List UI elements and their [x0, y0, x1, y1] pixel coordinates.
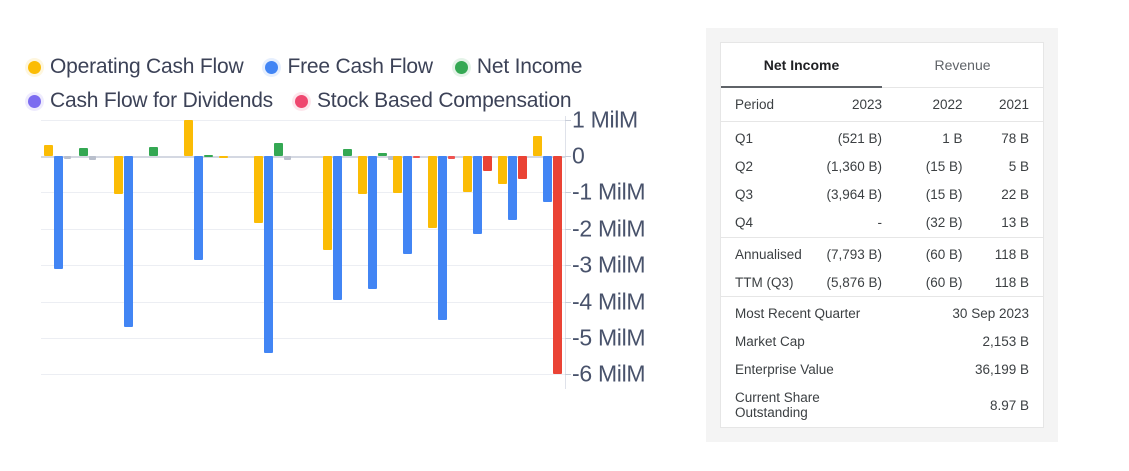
bar-operating-cash-flow[interactable]	[463, 156, 472, 192]
row-value: 30 Sep 2023	[882, 297, 1043, 328]
column-header-period: Period	[721, 88, 802, 122]
cell-2023: (7,793 B)	[802, 237, 883, 268]
chart-y-tickmark	[565, 302, 571, 303]
chart-y-tick-label: -4 MilM	[572, 288, 645, 315]
row-value: 36,199 B	[882, 356, 1043, 384]
bar-operating-cash-flow[interactable]	[114, 156, 123, 194]
bar-cash-flow-for-dividends[interactable]	[64, 156, 71, 159]
legend-label: Cash Flow for Dividends	[50, 89, 273, 113]
row-value: 2,153 B	[882, 328, 1043, 356]
financials-card: Net Income Revenue Period 2023 2022 2021…	[720, 42, 1044, 428]
bar-free-cash-flow[interactable]	[473, 156, 482, 234]
legend-dot-icon	[265, 61, 278, 74]
chart-y-tick-label: -5 MilM	[572, 325, 645, 352]
cell-2022: (32 B)	[882, 209, 963, 238]
financials-tabs: Net Income Revenue	[721, 43, 1043, 88]
bar-net-income[interactable]	[79, 148, 88, 156]
legend-item-free-cash-flow[interactable]: Free Cash Flow	[265, 55, 432, 79]
cash-flow-chart-panel: Operating Cash Flow Free Cash Flow Net I…	[0, 0, 680, 471]
chart-bar-group[interactable]	[181, 116, 216, 389]
table-row: Q3 (3,964 B) (15 B) 22 B	[721, 181, 1043, 209]
row-label: Market Cap	[721, 328, 882, 356]
chart-y-tickmark	[565, 192, 571, 193]
cell-2021: 78 B	[963, 122, 1044, 153]
chart-bar-group[interactable]	[216, 116, 251, 389]
legend-item-cash-flow-for-dividends[interactable]: Cash Flow for Dividends	[28, 89, 273, 113]
table-row: Most Recent Quarter 30 Sep 2023	[721, 297, 1043, 328]
legend-label: Net Income	[477, 55, 582, 79]
legend-item-net-income[interactable]: Net Income	[455, 55, 582, 79]
chart-y-tickmark	[565, 120, 571, 121]
cell-2022: (60 B)	[882, 268, 963, 297]
chart-bar-group[interactable]	[355, 116, 390, 389]
row-label: Q3	[721, 181, 802, 209]
chart-y-tickmark	[565, 374, 571, 375]
cell-2021: 118 B	[963, 268, 1044, 297]
legend-row-1: Operating Cash Flow Free Cash Flow Net I…	[28, 50, 648, 84]
cell-2021: 118 B	[963, 237, 1044, 268]
cell-2022: (15 B)	[882, 153, 963, 181]
bar-net-income[interactable]	[343, 149, 352, 156]
chart-bar-group[interactable]	[530, 116, 565, 389]
bar-operating-cash-flow[interactable]	[393, 156, 402, 193]
bar-free-cash-flow[interactable]	[333, 156, 342, 300]
table-row: Current Share Outstanding 8.97 B	[721, 384, 1043, 427]
bar-net-income[interactable]	[553, 156, 562, 374]
cell-2022: 1 B	[882, 122, 963, 153]
table-row: TTM (Q3) (5,876 B) (60 B) 118 B	[721, 268, 1043, 297]
chart-y-tick-label: 0	[572, 143, 585, 170]
chart-y-tick-label: 1 MilM	[572, 106, 638, 133]
bar-net-income[interactable]	[204, 155, 213, 157]
legend-dot-icon	[28, 61, 41, 74]
chart-legend: Operating Cash Flow Free Cash Flow Net I…	[28, 50, 648, 118]
bar-free-cash-flow[interactable]	[194, 156, 203, 260]
cell-2023: (1,360 B)	[802, 153, 883, 181]
bar-net-income[interactable]	[483, 156, 492, 171]
chart-plot-area[interactable]	[41, 116, 565, 389]
column-header-2023: 2023	[802, 88, 883, 122]
chart-bar-group[interactable]	[495, 116, 530, 389]
chart-bar-group[interactable]	[390, 116, 425, 389]
legend-dot-icon	[455, 61, 468, 74]
cell-2021: 13 B	[963, 209, 1044, 238]
column-header-2022: 2022	[882, 88, 963, 122]
legend-item-operating-cash-flow[interactable]: Operating Cash Flow	[28, 55, 243, 79]
chart-y-tick-labels: 1 MilM0-1 MilM-2 MilM-3 MilM-4 MilM-5 Mi…	[572, 116, 680, 389]
column-header-2021: 2021	[963, 88, 1044, 122]
chart-bar-group[interactable]	[425, 116, 460, 389]
chart-bar-group[interactable]	[320, 116, 355, 389]
cell-2022: (60 B)	[882, 237, 963, 268]
chart-y-tickmark	[565, 229, 571, 230]
bar-free-cash-flow[interactable]	[124, 156, 133, 327]
row-label: Q2	[721, 153, 802, 181]
row-label: Q4	[721, 209, 802, 238]
cell-2023: -	[802, 209, 883, 238]
legend-label: Free Cash Flow	[287, 55, 432, 79]
cell-2023: (521 B)	[802, 122, 883, 153]
row-label: Annualised	[721, 237, 802, 268]
table-row: Enterprise Value 36,199 B	[721, 356, 1043, 384]
chart-y-tick-label: -1 MilM	[572, 179, 645, 206]
legend-dot-icon	[28, 95, 41, 108]
row-label: Enterprise Value	[721, 356, 882, 384]
chart-y-tickmark	[565, 265, 571, 266]
bar-cash-flow-for-dividends[interactable]	[89, 156, 96, 160]
legend-label: Stock Based Compensation	[317, 89, 571, 113]
bar-net-income[interactable]	[149, 147, 158, 156]
row-label: Current Share Outstanding	[721, 384, 882, 427]
bar-operating-cash-flow[interactable]	[323, 156, 332, 250]
legend-item-stock-based-compensation[interactable]: Stock Based Compensation	[295, 89, 571, 113]
bar-operating-cash-flow[interactable]	[44, 145, 53, 156]
table-row: Annualised (7,793 B) (60 B) 118 B	[721, 237, 1043, 268]
chart-y-tick-label: -3 MilM	[572, 252, 645, 279]
bar-free-cash-flow[interactable]	[543, 156, 552, 202]
cell-2023: (3,964 B)	[802, 181, 883, 209]
legend-row-2: Cash Flow for Dividends Stock Based Comp…	[28, 84, 648, 118]
chart-bar-group[interactable]	[251, 116, 286, 389]
cell-2021: 5 B	[963, 153, 1044, 181]
table-row: Q2 (1,360 B) (15 B) 5 B	[721, 153, 1043, 181]
bar-free-cash-flow[interactable]	[508, 156, 517, 220]
table-row: Q1 (521 B) 1 B 78 B	[721, 122, 1043, 153]
chart-bar-group[interactable]	[286, 116, 321, 389]
bar-net-income[interactable]	[274, 143, 283, 156]
table-row: Q4 - (32 B) 13 B	[721, 209, 1043, 238]
row-label: Most Recent Quarter	[721, 297, 882, 328]
cell-2022: (15 B)	[882, 181, 963, 209]
table-row: Market Cap 2,153 B	[721, 328, 1043, 356]
chart-bar-group[interactable]	[146, 116, 181, 389]
bar-operating-cash-flow[interactable]	[184, 120, 193, 156]
chart-y-tickmark	[565, 156, 571, 157]
bar-operating-cash-flow[interactable]	[254, 156, 263, 223]
bar-stock-based-compensation[interactable]	[448, 156, 455, 159]
financials-table: Period 2023 2022 2021 Q1 (521 B) 1 B 78 …	[721, 88, 1043, 427]
chart-bar-group[interactable]	[41, 116, 76, 389]
chart-y-tick-label: -2 MilM	[572, 215, 645, 242]
bar-operating-cash-flow[interactable]	[498, 156, 507, 184]
bar-stock-based-compensation[interactable]	[413, 156, 420, 158]
bar-free-cash-flow[interactable]	[264, 156, 273, 353]
cell-2021: 22 B	[963, 181, 1044, 209]
bar-operating-cash-flow[interactable]	[533, 136, 542, 156]
financials-panel: Net Income Revenue Period 2023 2022 2021…	[706, 28, 1058, 442]
legend-dot-icon	[295, 95, 308, 108]
bar-free-cash-flow[interactable]	[438, 156, 447, 320]
chart-x-tick-labels: 2020-122021-092022-062023-0	[0, 398, 520, 438]
chart-y-tick-label: -6 MilM	[572, 361, 645, 388]
table-header-row: Period 2023 2022 2021	[721, 88, 1043, 122]
tab-revenue[interactable]: Revenue	[882, 43, 1043, 87]
legend-label: Operating Cash Flow	[50, 55, 243, 79]
tab-net-income[interactable]: Net Income	[721, 43, 882, 87]
bar-operating-cash-flow[interactable]	[358, 156, 367, 194]
bar-net-income[interactable]	[378, 153, 387, 156]
row-label: TTM (Q3)	[721, 268, 802, 297]
bar-operating-cash-flow[interactable]	[428, 156, 437, 228]
chart-y-tickmark	[565, 338, 571, 339]
chart-bar-group[interactable]	[460, 116, 495, 389]
row-label: Q1	[721, 122, 802, 153]
chart-bar-group[interactable]	[76, 116, 111, 389]
chart-bar-group[interactable]	[111, 116, 146, 389]
bar-free-cash-flow[interactable]	[403, 156, 412, 254]
bar-free-cash-flow[interactable]	[54, 156, 63, 269]
row-value: 8.97 B	[882, 384, 1043, 427]
bar-net-income[interactable]	[518, 156, 527, 179]
bar-free-cash-flow[interactable]	[368, 156, 377, 289]
bar-operating-cash-flow[interactable]	[219, 156, 228, 158]
cell-2023: (5,876 B)	[802, 268, 883, 297]
